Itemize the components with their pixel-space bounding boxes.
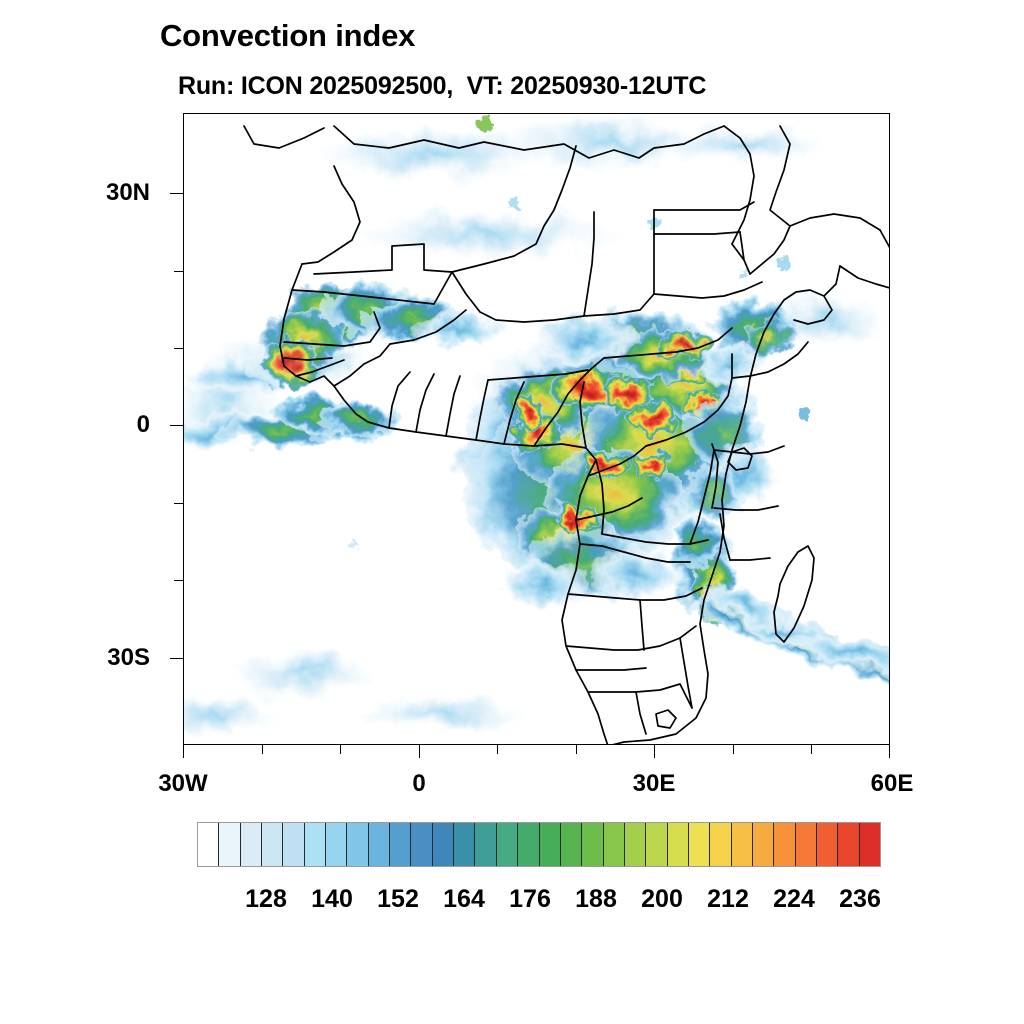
page-title: Convection index [160,18,415,54]
x-tick-30w [183,745,184,758]
y-tick-10n [174,348,183,349]
colorbar-cell-28 [796,823,817,866]
y-tick-30s [170,658,183,659]
colorbar-cell-29 [817,823,838,866]
colorbar-label-236: 236 [800,885,920,914]
colorbar-cell-30 [838,823,859,866]
colorbar-cell-2 [241,823,262,866]
colorbar-cell-3 [262,823,283,866]
colorbar-cell-19 [604,823,625,866]
colorbar-cell-27 [774,823,795,866]
convection-field [184,116,890,736]
colorbar-cell-6 [326,823,347,866]
y-axis-label-30s: 30S [30,644,150,672]
x-tick-40e [733,745,734,754]
x-axis-label-0: 0 [339,770,499,798]
colorbar-cell-1 [219,823,240,866]
y-tick-0 [170,425,183,426]
colorbar-cell-23 [689,823,710,866]
x-tick-30e [654,745,655,758]
colorbar-cell-8 [369,823,390,866]
colorbar-cell-12 [454,823,475,866]
colorbar-cell-4 [283,823,304,866]
colorbar-cell-15 [518,823,539,866]
colorbar-cell-7 [347,823,368,866]
x-axis-label-30e: 30E [574,770,734,798]
x-tick-20w [262,745,263,754]
colorbar-cell-5 [305,823,326,866]
map-plot-area [183,113,890,745]
colorbar [197,822,881,867]
x-tick-10w [340,745,341,754]
x-tick-0 [419,745,420,758]
x-tick-10e [497,745,498,754]
colorbar-cell-25 [732,823,753,866]
colorbar-cell-18 [582,823,603,866]
y-tick-10s [174,503,183,504]
y-axis-label-30n: 30N [30,179,150,207]
y-tick-30n [170,193,183,194]
x-axis-label-30w: 30W [103,770,263,798]
run-valid-time-subtitle: Run: ICON 2025092500, VT: 20250930-12UTC [178,72,706,101]
colorbar-cell-31 [860,823,880,866]
x-tick-60e [889,745,890,758]
x-tick-50e [811,745,812,754]
y-tick-20s [174,580,183,581]
colorbar-cell-9 [390,823,411,866]
colorbar-cell-21 [646,823,667,866]
colorbar-cell-11 [433,823,454,866]
colorbar-cell-20 [625,823,646,866]
y-tick-20n [174,271,183,272]
colorbar-cell-17 [561,823,582,866]
x-tick-20e [576,745,577,754]
colorbar-cell-0 [198,823,219,866]
colorbar-cell-13 [475,823,496,866]
colorbar-cell-24 [710,823,731,866]
y-axis-label-0: 0 [30,411,150,439]
colorbar-cell-22 [668,823,689,866]
colorbar-cell-26 [753,823,774,866]
colorbar-cell-16 [540,823,561,866]
colorbar-cell-14 [497,823,518,866]
africa-convection-map [184,114,890,745]
colorbar-cell-10 [411,823,432,866]
x-axis-label-60e: 60E [812,770,972,798]
